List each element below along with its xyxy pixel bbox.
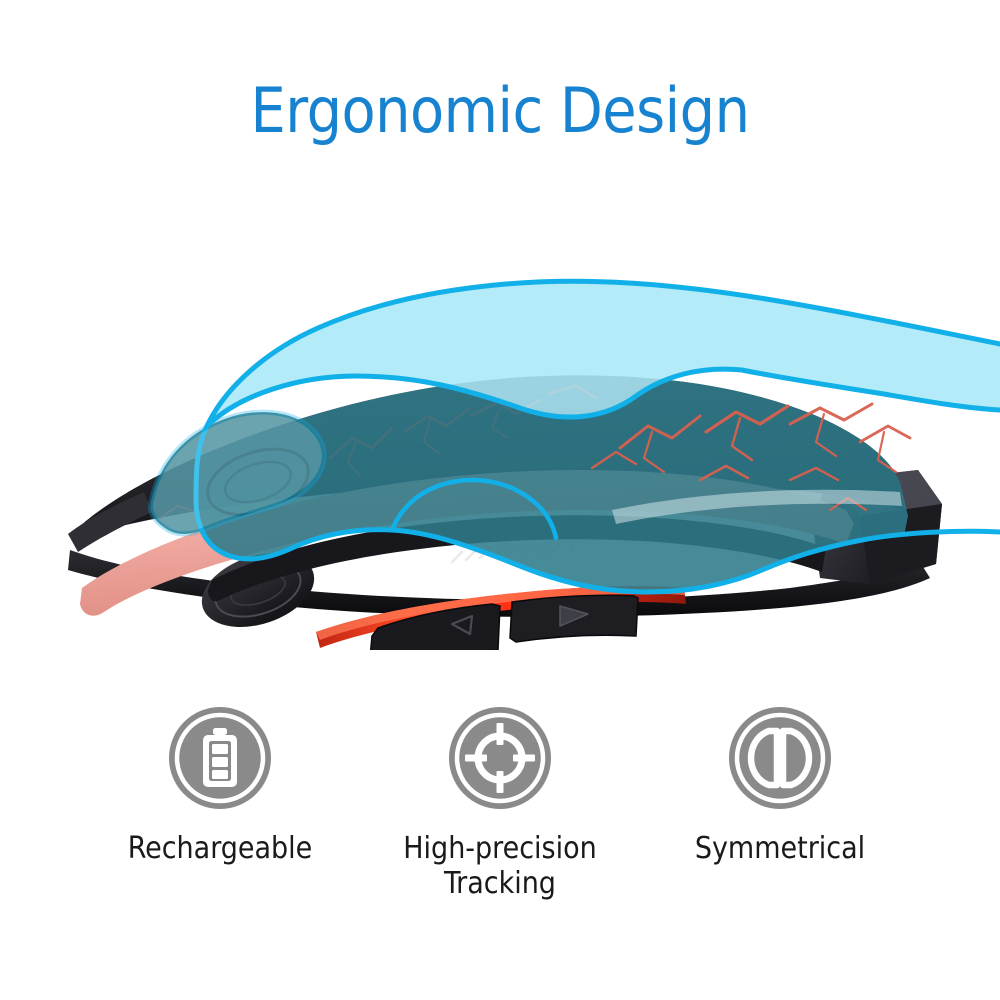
feature-label-symmetrical: Symmetrical [695,831,865,866]
feature-list: Rechargeable High-precision Tracking [0,705,1000,945]
feature-label-high-precision-tracking: High-precision Tracking [403,831,597,902]
page-title: Ergonomic Design [0,78,1000,143]
product-hero-image [0,180,1000,650]
feature-label-rechargeable: Rechargeable [128,831,313,866]
front-tip [68,492,152,552]
page-root: Ergonomic Design [0,0,1000,1000]
symmetrical-icon [727,705,833,811]
feature-item-rechargeable[interactable]: Rechargeable [80,705,360,866]
feature-item-symmetrical[interactable]: Symmetrical [640,705,920,866]
battery-icon [167,705,273,811]
gaming-mouse-illustration [0,180,1000,650]
crosshair-target-icon [447,705,553,811]
hand-fill-upper [207,281,1000,426]
feature-item-high-precision-tracking[interactable]: High-precision Tracking [360,705,640,902]
